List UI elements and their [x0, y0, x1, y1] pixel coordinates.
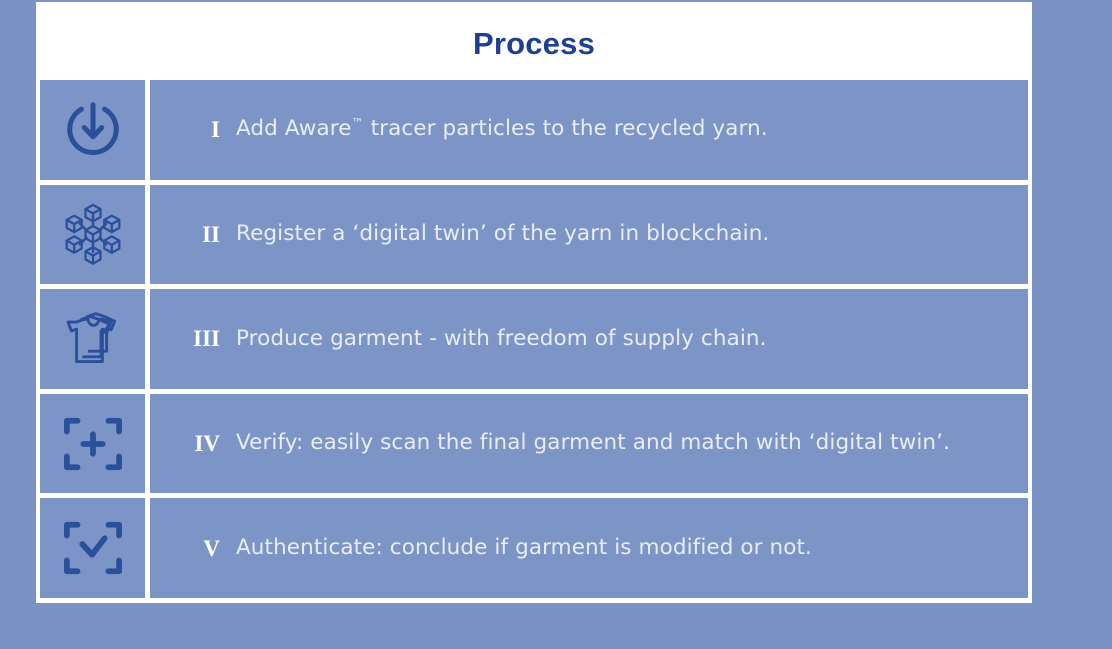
- power-download-icon: [62, 99, 124, 161]
- trademark-symbol: ™: [352, 116, 364, 130]
- text-cell-step-5: V Authenticate: conclude if garment is m…: [150, 498, 1028, 598]
- blockchain-cubes-icon: [62, 201, 124, 267]
- text-cell-step-2: II Register a ‘digital twin’ of the yarn…: [150, 185, 1028, 285]
- table-header: Process: [40, 6, 1028, 80]
- step-numeral: IV: [186, 432, 220, 455]
- icon-cell-step-2: [40, 185, 145, 285]
- text-cell-step-3: III Produce garment - with freedom of su…: [150, 289, 1028, 389]
- page-title: Process: [473, 28, 595, 59]
- step-numeral: V: [186, 537, 220, 560]
- step-description: Register a ‘digital twin’ of the yarn in…: [236, 222, 769, 247]
- table-row: I Add Aware™ tracer particles to the rec…: [40, 80, 1028, 180]
- process-steps-list: I Add Aware™ tracer particles to the rec…: [40, 80, 1028, 599]
- process-table: Process I Add Aware™ tracer partic: [36, 2, 1032, 603]
- icon-cell-step-5: [40, 498, 145, 598]
- text-cell-step-1: I Add Aware™ tracer particles to the rec…: [150, 80, 1028, 180]
- scan-check-icon: [63, 518, 123, 578]
- table-row: IV Verify: easily scan the final garment…: [40, 394, 1028, 494]
- icon-cell-step-4: [40, 394, 145, 494]
- step-description: Produce garment - with freedom of supply…: [236, 327, 767, 352]
- table-row: II Register a ‘digital twin’ of the yarn…: [40, 185, 1028, 285]
- table-row: III Produce garment - with freedom of su…: [40, 289, 1028, 389]
- step-description: Verify: easily scan the final garment an…: [236, 431, 950, 456]
- stacked-tshirts-icon: [61, 308, 125, 370]
- step-numeral: I: [186, 118, 220, 141]
- step-description: Authenticate: conclude if garment is mod…: [236, 536, 812, 561]
- step-numeral: III: [186, 327, 220, 350]
- table-row: V Authenticate: conclude if garment is m…: [40, 498, 1028, 598]
- step-description: Add Aware™ tracer particles to the recyc…: [236, 117, 768, 142]
- scan-plus-icon: [63, 414, 123, 474]
- icon-cell-step-1: [40, 80, 145, 180]
- slide-canvas: Process I Add Aware™ tracer partic: [0, 0, 1112, 649]
- icon-cell-step-3: [40, 289, 145, 389]
- step-numeral: II: [186, 223, 220, 246]
- text-cell-step-4: IV Verify: easily scan the final garment…: [150, 394, 1028, 494]
